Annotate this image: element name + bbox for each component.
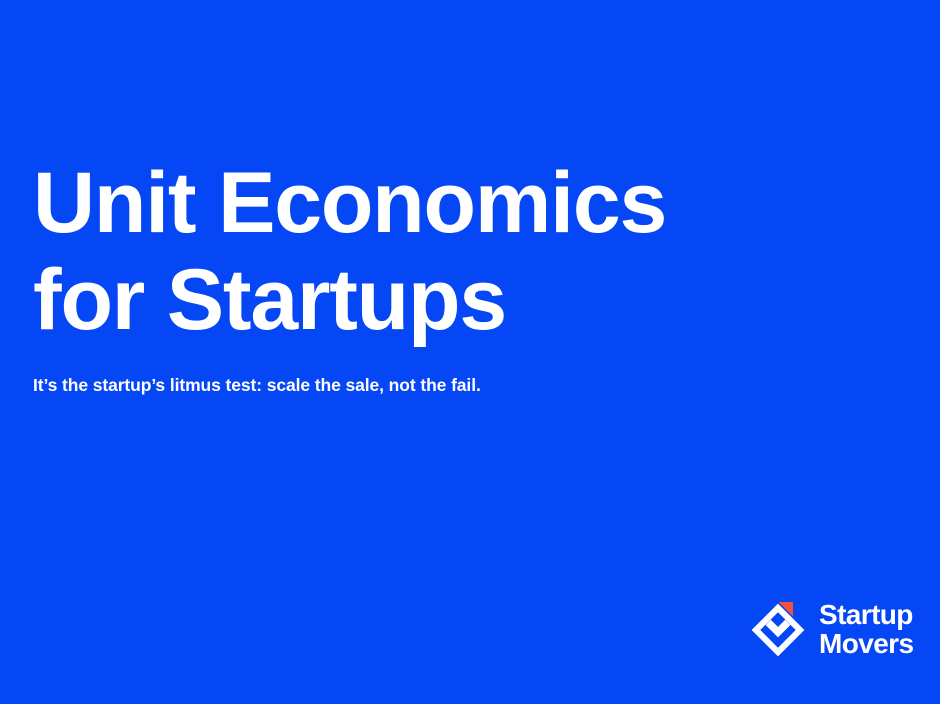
slide-text-block: Unit Economics for Startups It’s the sta…	[33, 155, 793, 398]
page-title: Unit Economics for Startups	[33, 155, 693, 349]
presentation-slide: Unit Economics for Startups It’s the sta…	[0, 0, 940, 704]
logo-wordmark-line-1: Startup	[819, 601, 913, 630]
diamond-logo-icon	[748, 600, 808, 660]
brand-logo: Startup Movers	[748, 600, 913, 660]
logo-wordmark-line-2: Movers	[819, 630, 913, 659]
slide-subtitle: It’s the startup’s litmus test: scale th…	[33, 374, 793, 398]
logo-wordmark: Startup Movers	[819, 601, 913, 658]
